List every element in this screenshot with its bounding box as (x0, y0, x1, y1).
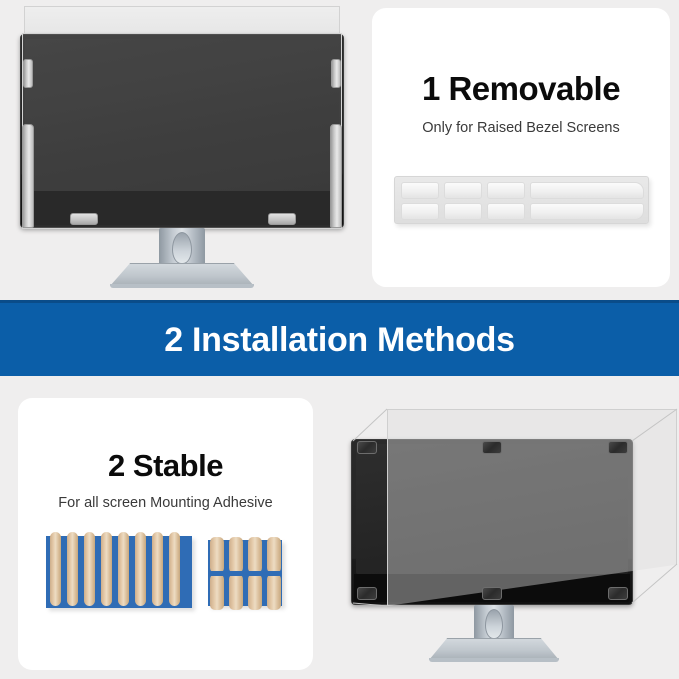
monitor-stand-base-edge (429, 658, 559, 662)
stable-subheading: For all screen Mounting Adhesive (18, 495, 313, 511)
clip-strip-art (394, 176, 649, 224)
clip-strip-cell (444, 182, 482, 199)
card-stable: 2 Stable For all screen Mounting Adhesiv… (18, 398, 313, 670)
adhesive-tab-bottom-center (482, 587, 502, 600)
adhesive-pad (267, 537, 281, 573)
adhesive-pack-right (208, 540, 282, 606)
adhesive-pad (248, 537, 262, 573)
installation-methods-banner: 2 Installation Methods (0, 300, 679, 376)
adhesive-tab-top-left (357, 441, 377, 454)
adhesive-pad (229, 537, 243, 573)
clip-strip-cell-long (530, 182, 644, 199)
card-removable: 1 Removable Only for Raised Bezel Screen… (372, 8, 670, 287)
photo-monitor-with-clips (0, 0, 368, 296)
monitor-stand-cable-hole (485, 609, 503, 639)
photo-monitor-with-adhesive (330, 390, 679, 679)
adhesive-strip (84, 532, 95, 606)
adhesive-tab-top-right (608, 441, 628, 454)
privacy-sheet-perspective (387, 409, 677, 606)
adhesive-strip (67, 532, 78, 606)
side-clip-top-right (331, 59, 341, 88)
monitor-illustration-adhesive (330, 390, 679, 679)
adhesive-strip (118, 532, 129, 606)
stable-heading: 2 Stable (18, 448, 313, 484)
monitor-illustration-clips (0, 0, 368, 296)
clip-strip-cell (487, 182, 525, 199)
product-infographic: 1 Removable Only for Raised Bezel Screen… (0, 0, 679, 679)
clip-strip-cell (401, 182, 439, 199)
monitor-stand-cable-hole (172, 232, 192, 264)
privacy-sheet-mounted (22, 33, 342, 229)
clip-strip-cell (401, 203, 439, 220)
adhesive-strip (50, 532, 61, 606)
monitor-stand-base (429, 638, 559, 660)
adhesive-pad (267, 574, 281, 610)
clip-strip-cell (444, 203, 482, 220)
adhesive-pack-left (46, 536, 192, 608)
adhesive-pad (248, 574, 262, 610)
adhesive-pad (210, 574, 224, 610)
bottom-clip-left (70, 213, 98, 225)
monitor-stand-base-edge (110, 284, 254, 288)
adhesive-pad (229, 574, 243, 610)
removable-heading: 1 Removable (372, 70, 670, 108)
removable-subheading: Only for Raised Bezel Screens (372, 120, 670, 136)
adhesive-strip (169, 532, 180, 606)
monitor-stand-base (110, 263, 254, 286)
adhesive-pad (210, 537, 224, 573)
adhesive-strip (101, 532, 112, 606)
side-clip-bottom-right (330, 124, 342, 228)
adhesive-backing-divider (208, 571, 282, 576)
clip-strip-cell (487, 203, 525, 220)
side-clip-bottom-left (22, 124, 34, 228)
clip-strip-cell-long (530, 203, 644, 220)
adhesive-tab-top-center (482, 441, 502, 454)
banner-title: 2 Installation Methods (164, 323, 514, 357)
adhesive-strip (152, 532, 163, 606)
adhesive-tab-bottom-right (608, 587, 628, 600)
adhesive-strip (135, 532, 146, 606)
side-clip-top-left (23, 59, 33, 88)
bottom-clip-right (268, 213, 296, 225)
adhesive-tab-bottom-left (357, 587, 377, 600)
